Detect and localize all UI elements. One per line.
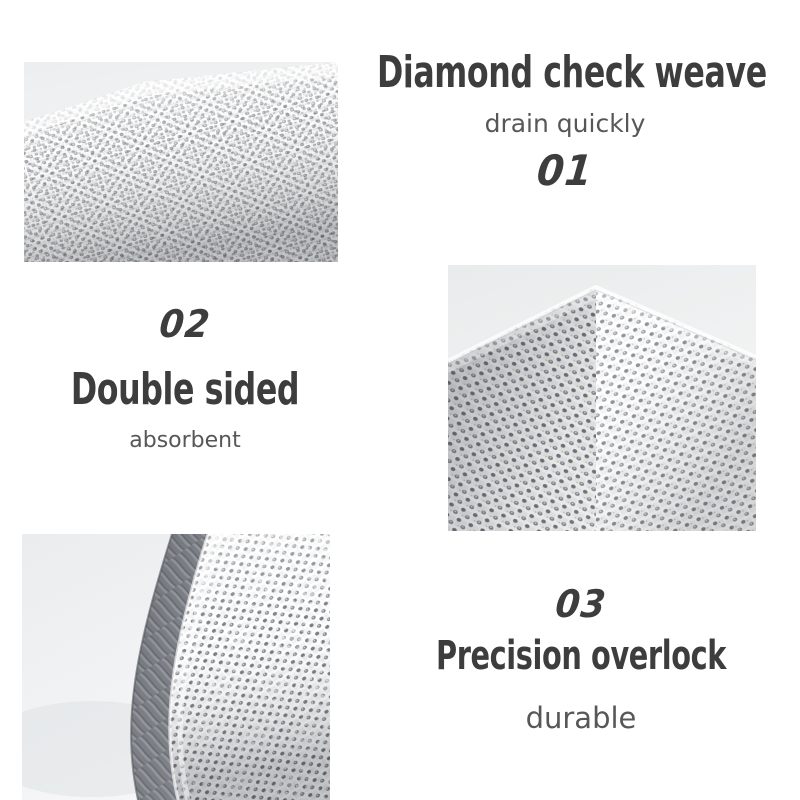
feature-02-step-number: 02 xyxy=(13,305,357,343)
feature-02-subline: absorbent xyxy=(0,429,370,453)
mesh-corner-illustration xyxy=(448,265,756,531)
feature-block-02: 02 Double sided absorbent xyxy=(0,305,370,453)
feature-03-subline: durable xyxy=(362,703,800,735)
feature-03-step-number: 03 xyxy=(378,585,785,623)
feature-01-subline: drain quickly xyxy=(330,110,800,138)
photo-mesh-corner xyxy=(448,265,756,531)
feature-01-headline: Diamond check weave xyxy=(377,50,753,96)
infographic-canvas: Diamond check weave drain quickly 01 02 … xyxy=(0,0,800,800)
feature-03-headline: Precision overlock xyxy=(406,635,756,677)
feature-01-step-number: 01 xyxy=(347,150,784,192)
feature-02-headline: Double sided xyxy=(37,367,333,413)
photo-weave-closeup xyxy=(24,62,338,262)
feature-block-01: Diamond check weave drain quickly 01 xyxy=(330,50,800,192)
overlock-edge-illustration xyxy=(22,534,330,800)
weave-closeup-illustration xyxy=(24,62,338,262)
photo-overlock-edge xyxy=(22,534,330,800)
feature-block-03: 03 Precision overlock durable xyxy=(362,585,800,735)
